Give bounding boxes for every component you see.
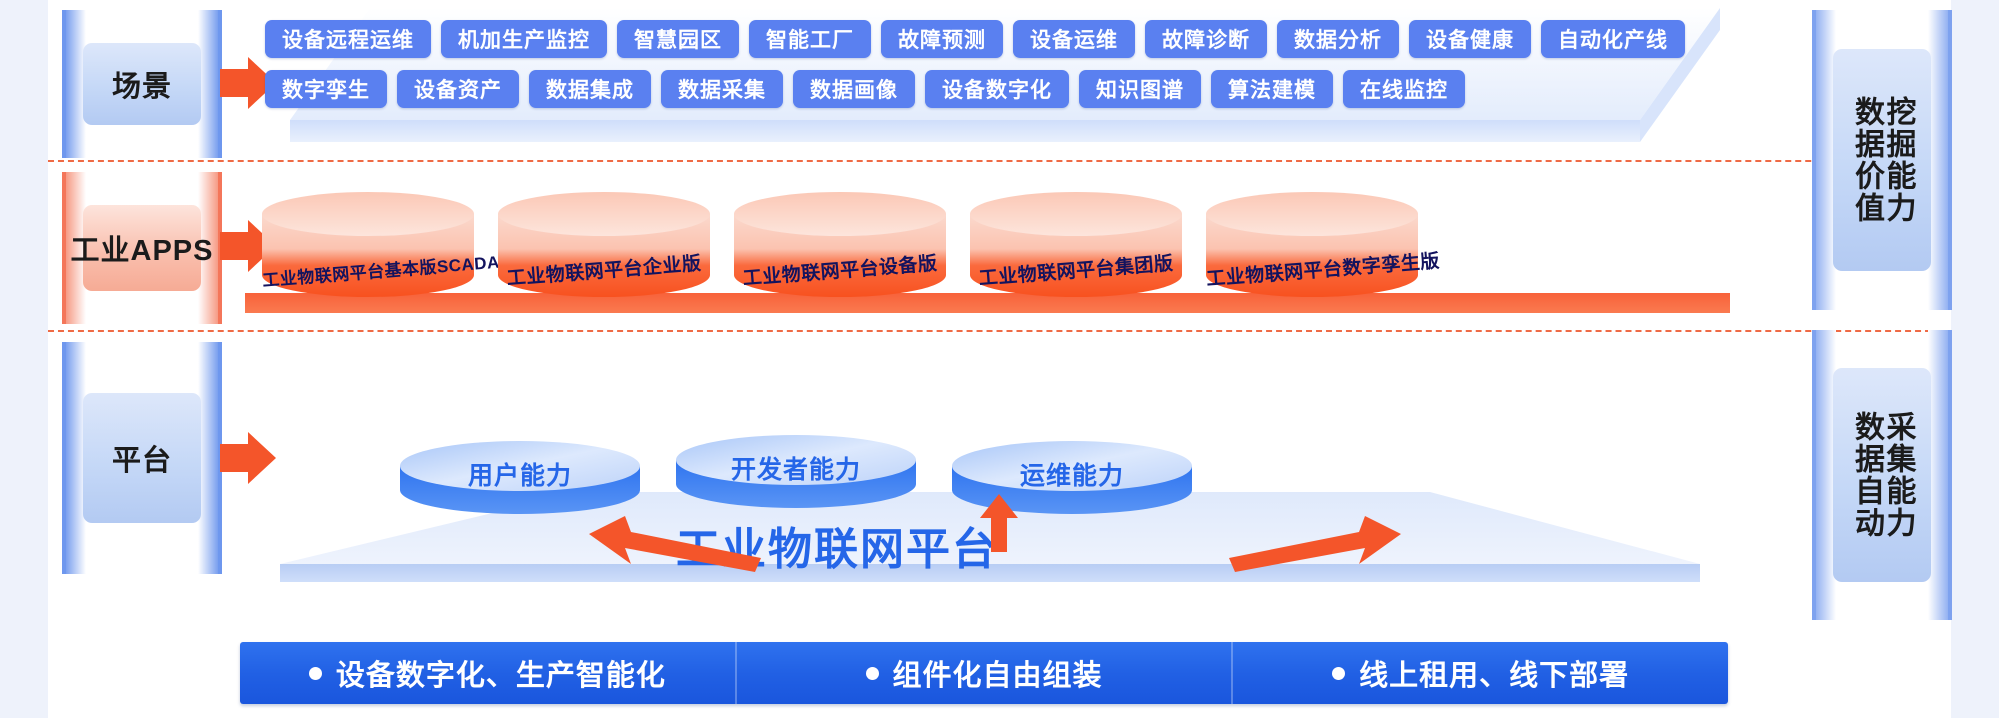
scene-tag[interactable]: 数据采集 (661, 70, 783, 108)
scene-tag[interactable]: 在线监控 (1343, 70, 1465, 108)
apps-cylinder[interactable]: 工业物联网平台基本版SCADA (262, 192, 474, 297)
arrow-left-capability-icon (585, 512, 765, 574)
scene-tag[interactable]: 设备运维 (1013, 20, 1135, 58)
scene-tag-row-1: 设备远程运维机加生产监控智慧园区智能工厂故障预测设备运维故障诊断数据分析设备健康… (265, 20, 1685, 58)
diagram-canvas: 场景 设备远程运维机加生产监控智慧园区智能工厂故障预测设备运维故障诊断数据分析设… (0, 0, 1999, 718)
platform-disc-label: 运维能力 (952, 456, 1192, 492)
right-label-col-left: 数据价值 (1851, 96, 1883, 224)
platform-disc-label: 开发者能力 (676, 450, 916, 486)
left-label-apps-pill: 工业APPS (83, 205, 201, 290)
platform-disc[interactable]: 用户能力 (400, 440, 640, 514)
left-rail (0, 0, 48, 718)
highlight-item: 组件化自由组装 (735, 642, 1232, 704)
scene-tag[interactable]: 设备数字化 (925, 70, 1069, 108)
highlight-item: 设备数字化、生产智能化 (240, 642, 735, 704)
scene-tag[interactable]: 数据画像 (793, 70, 915, 108)
right-label-col-right: 挖掘能力 (1882, 96, 1914, 224)
arrow-up-capability-icon (978, 492, 1020, 554)
arrow-right-capability-icon (1225, 512, 1405, 574)
scene-tag[interactable]: 数字孪生 (265, 70, 387, 108)
bullet-dot-icon (1332, 667, 1345, 680)
left-label-scene-text: 场景 (112, 63, 172, 105)
scene-tag[interactable]: 算法建模 (1211, 70, 1333, 108)
arrow-to-platform-icon (218, 430, 278, 486)
highlight-item-label: 线上租用、线下部署 (1359, 652, 1629, 694)
scene-tag[interactable]: 数据分析 (1277, 20, 1399, 58)
right-rail (1951, 0, 1999, 718)
left-label-apps: 工业APPS (62, 172, 222, 324)
scene-tag[interactable]: 故障诊断 (1145, 20, 1267, 58)
right-label-col-left: 数据自动 (1851, 411, 1883, 539)
apps-cylinder[interactable]: 工业物联网平台数字孪生版 (1206, 192, 1418, 297)
left-label-platform-text: 平台 (112, 437, 172, 479)
scene-tag[interactable]: 设备远程运维 (265, 20, 431, 58)
platform-highlight-bar: 设备数字化、生产智能化 组件化自由组装 线上租用、线下部署 (240, 642, 1728, 704)
bullet-dot-icon (866, 667, 879, 680)
left-label-platform-pill: 平台 (83, 393, 201, 523)
left-label-apps-text: 工业APPS (71, 227, 214, 269)
highlight-item-label: 设备数字化、生产智能化 (336, 652, 666, 694)
left-label-scene-pill: 场景 (83, 43, 201, 126)
left-label-scene: 场景 (62, 10, 222, 158)
platform-disc[interactable]: 开发者能力 (676, 434, 916, 508)
highlight-item: 线上租用、线下部署 (1231, 642, 1728, 704)
platform-disc-label: 用户能力 (400, 456, 640, 492)
bullet-dot-icon (309, 667, 322, 680)
scene-tag[interactable]: 自动化产线 (1541, 20, 1685, 58)
scene-tag[interactable]: 机加生产监控 (441, 20, 607, 58)
right-label-data-collection-pill: 采集能力 数据自动 (1833, 368, 1931, 583)
separator-apps-platform (48, 330, 1951, 332)
separator-scene-apps (48, 160, 1951, 162)
scene-tag[interactable]: 设备健康 (1409, 20, 1531, 58)
bracket-wing-right-icon (1928, 10, 1952, 310)
highlight-item-label: 组件化自由组装 (893, 652, 1103, 694)
scene-tag[interactable]: 故障预测 (881, 20, 1003, 58)
right-label-col-right: 采集能力 (1882, 411, 1914, 539)
scene-tag[interactable]: 设备资产 (397, 70, 519, 108)
scene-tag[interactable]: 智能工厂 (749, 20, 871, 58)
apps-cylinder[interactable]: 工业物联网平台集团版 (970, 192, 1182, 297)
right-label-data-value: 挖掘能力 数据价值 (1812, 10, 1952, 310)
bracket-wing-right-icon (1928, 330, 1952, 620)
apps-cylinder[interactable]: 工业物联网平台企业版 (498, 192, 710, 297)
scene-tag[interactable]: 数据集成 (529, 70, 651, 108)
left-label-platform: 平台 (62, 342, 222, 574)
right-label-data-value-pill: 挖掘能力 数据价值 (1833, 49, 1931, 271)
scene-tag[interactable]: 智慧园区 (617, 20, 739, 58)
apps-cylinder[interactable]: 工业物联网平台设备版 (734, 192, 946, 297)
right-label-data-collection: 采集能力 数据自动 (1812, 330, 1952, 620)
scene-tag[interactable]: 知识图谱 (1079, 70, 1201, 108)
scene-tag-row-2: 数字孪生设备资产数据集成数据采集数据画像设备数字化知识图谱算法建模在线监控 (265, 70, 1465, 108)
